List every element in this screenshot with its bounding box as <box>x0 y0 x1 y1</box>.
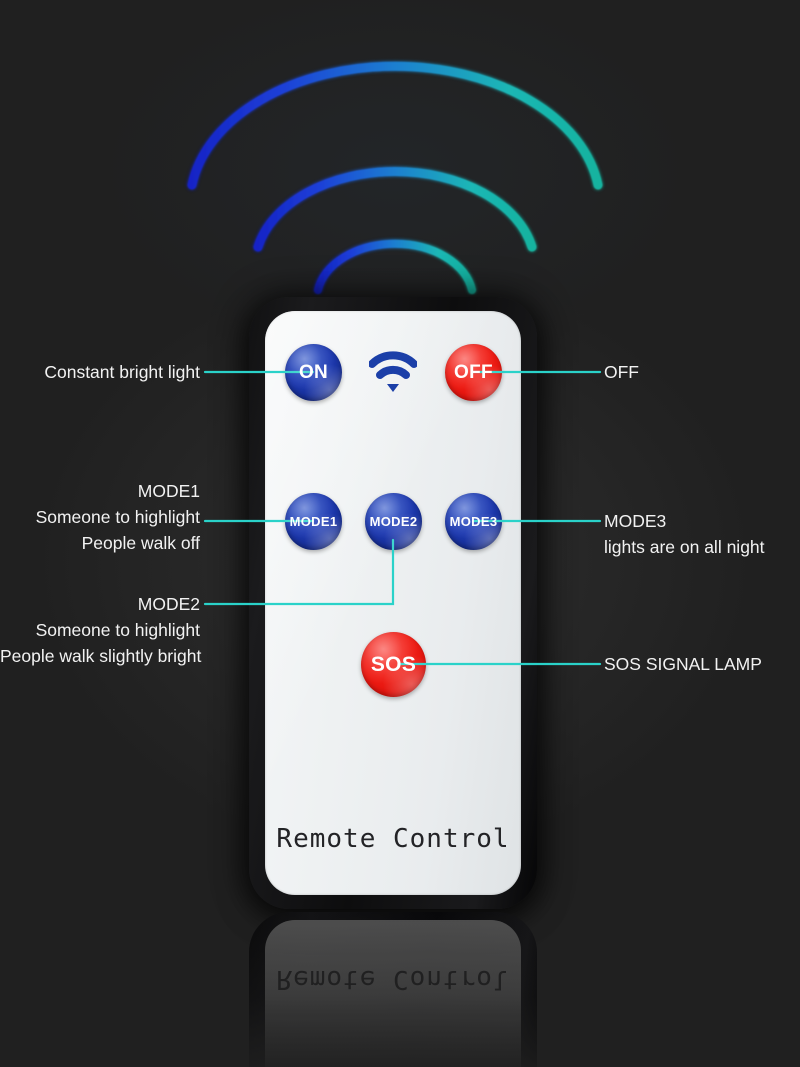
button-mode2-label: MODE2 <box>370 514 418 529</box>
callout-off-line1: OFF <box>604 359 639 385</box>
button-mode2[interactable]: MODE2 <box>365 493 422 550</box>
callout-mode1-line3: People walk off <box>0 530 200 556</box>
callout-mode2: MODE2 Someone to highlight People walk s… <box>0 591 200 669</box>
button-mode1[interactable]: MODE1 <box>285 493 342 550</box>
callout-constant-bright: Constant bright light <box>0 359 200 385</box>
callout-mode2-line1: MODE2 <box>0 591 200 617</box>
wifi-icon <box>369 351 417 393</box>
button-mode3[interactable]: MODE3 <box>445 493 502 550</box>
button-mode1-label: MODE1 <box>290 514 338 529</box>
product-diagram-stage: ON OFF MODE1 MODE2 MODE3 SOS Remote Cont… <box>0 0 800 1067</box>
button-off-label: OFF <box>454 362 493 384</box>
wireless-signal-arcs-icon <box>170 35 620 295</box>
button-off[interactable]: OFF <box>445 344 502 401</box>
reflection-brand-text: Remote Control <box>249 964 537 994</box>
callout-mode2-line3: People walk slightly bright <box>0 643 200 669</box>
callout-mode3: MODE3 lights are on all night <box>604 508 765 560</box>
callout-mode2-line2: Someone to highlight <box>0 617 200 643</box>
callout-mode1-line1: MODE1 <box>0 478 200 504</box>
button-on[interactable]: ON <box>285 344 342 401</box>
callout-mode1-line2: Someone to highlight <box>0 504 200 530</box>
callout-mode1: MODE1 Someone to highlight People walk o… <box>0 478 200 556</box>
callout-mode3-line1: MODE3 <box>604 508 765 534</box>
callout-sos: SOS SIGNAL LAMP <box>604 651 762 677</box>
button-sos-label: SOS <box>371 653 416 677</box>
callout-mode3-line2: lights are on all night <box>604 534 765 560</box>
remote-brand-text: Remote Control <box>249 824 537 854</box>
remote-reflection: Remote Control <box>249 912 537 1067</box>
callout-off: OFF <box>604 359 639 385</box>
callout-constant-bright-line1: Constant bright light <box>0 359 200 385</box>
button-on-label: ON <box>299 362 328 384</box>
callout-sos-line1: SOS SIGNAL LAMP <box>604 651 762 677</box>
button-mode3-label: MODE3 <box>450 514 498 529</box>
button-sos[interactable]: SOS <box>361 632 426 697</box>
